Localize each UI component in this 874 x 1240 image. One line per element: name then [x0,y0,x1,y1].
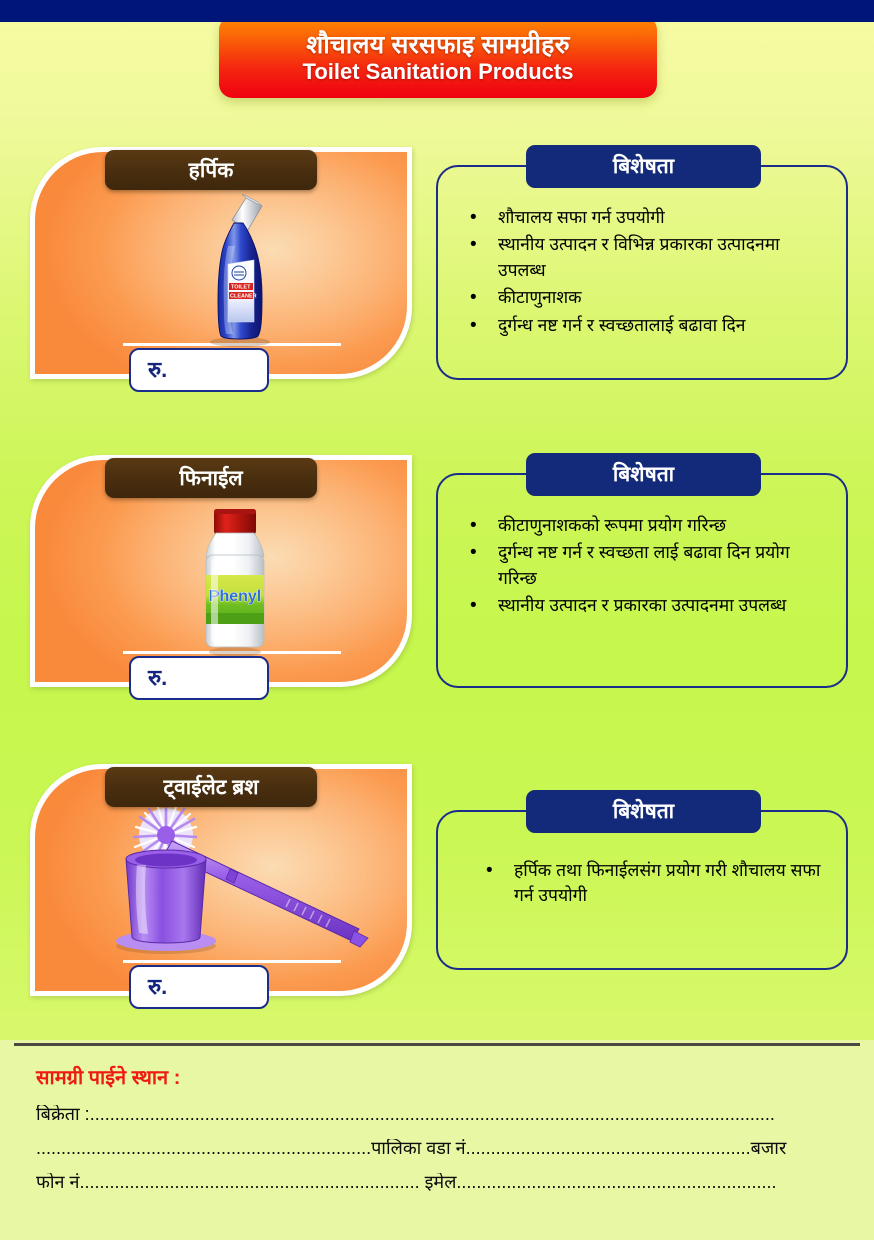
feature-item: हर्पिक तथा फिनाईलसंग प्रयोग गरी शौचालय स… [480,858,832,909]
card-divider [123,960,341,963]
price-box[interactable]: रु. [129,656,269,700]
page-title-banner: शौचालय सरसफाइ सामग्रीहरु Toilet Sanitati… [219,16,657,98]
product-name: ट्वाईलेट ब्रश [164,777,259,798]
product-row: TOILET CLEANER हर्पिक रु. बिशेषता शौचालय… [0,140,874,390]
availability-form: सामग्री पाईने स्थान : बिक्रेता :........… [36,1068,844,1207]
features-panel: बिशेषता हर्पिक तथा फिनाईलसंग प्रयोग गरी … [436,810,848,970]
feature-item: कीटाणुनाशक [464,285,832,310]
price-box[interactable]: रु. [129,348,269,392]
form-title: सामग्री पाईने स्थान : [36,1068,844,1088]
product-name: हर्पिक [189,160,234,181]
features-panel: बिशेषता शौचालय सफा गर्न उपयोगी स्थानीय उ… [436,165,848,380]
toilet-brush-with-holder-icon [104,807,384,957]
product-name: फिनाईल [179,468,242,489]
product-nameplate: फिनाईल [105,458,317,498]
price-label: रु. [148,667,167,689]
features-title: बिशेषता [613,464,674,485]
product-nameplate: ट्वाईलेट ब्रश [105,767,317,807]
features-list: कीटाणुनाशकको रूपमा प्रयोग गरिन्छ दुर्गन्… [438,475,846,619]
form-line-phone-email[interactable]: फोन नं..................................… [36,1173,844,1192]
page-title-english: Toilet Sanitation Products [303,59,574,84]
product-nameplate: हर्पिक [105,150,317,190]
feature-item: शौचालय सफा गर्न उपयोगी [464,205,832,230]
feature-item: स्थानीय उत्पादन र प्रकारका उत्पादनमा उपल… [464,593,832,618]
features-list: शौचालय सफा गर्न उपयोगी स्थानीय उत्पादन र… [438,167,846,338]
feature-item: दुर्गन्ध नष्ट गर्न र स्वच्छता लाई बढावा … [464,540,832,591]
price-box[interactable]: रु. [129,965,269,1009]
product-row: ट्वाईलेट ब्रश रु. बिशेषता हर्पिक तथा फिन… [0,757,874,1007]
feature-item: स्थानीय उत्पादन र विभिन्न प्रकारका उत्पा… [464,232,832,283]
svg-text:CLEANER: CLEANER [230,294,257,300]
features-header: बिशेषता [526,790,761,833]
feature-item: दुर्गन्ध नष्ट गर्न र स्वच्छतालाई बढावा द… [464,313,832,338]
top-navy-bar [0,0,874,22]
price-label: रु. [148,359,167,381]
features-panel: बिशेषता कीटाणुनाशकको रूपमा प्रयोग गरिन्छ… [436,473,848,688]
features-title: बिशेषता [613,156,674,177]
harpic-toilet-cleaner-bottle-icon: TOILET CLEANER [188,190,288,350]
phenyl-bottle-icon: Phenyl [192,503,278,658]
footer-divider [14,1043,860,1046]
price-label: रु. [148,976,167,998]
features-title: बिशेषता [613,801,674,822]
features-header: बिशेषता [526,145,761,188]
form-line-municipality[interactable]: ........................................… [36,1139,844,1158]
product-row: Phenyl फिनाईल रु. बिशेषता कीटाणुनाशकको र… [0,448,874,698]
features-header: बिशेषता [526,453,761,496]
svg-text:TOILET: TOILET [231,285,251,291]
page-title-nepali: शौचालय सरसफाइ सामग्रीहरु [306,31,570,59]
form-line-seller[interactable]: बिक्रेता :..............................… [36,1105,844,1124]
feature-item: कीटाणुनाशकको रूपमा प्रयोग गरिन्छ [464,513,832,538]
